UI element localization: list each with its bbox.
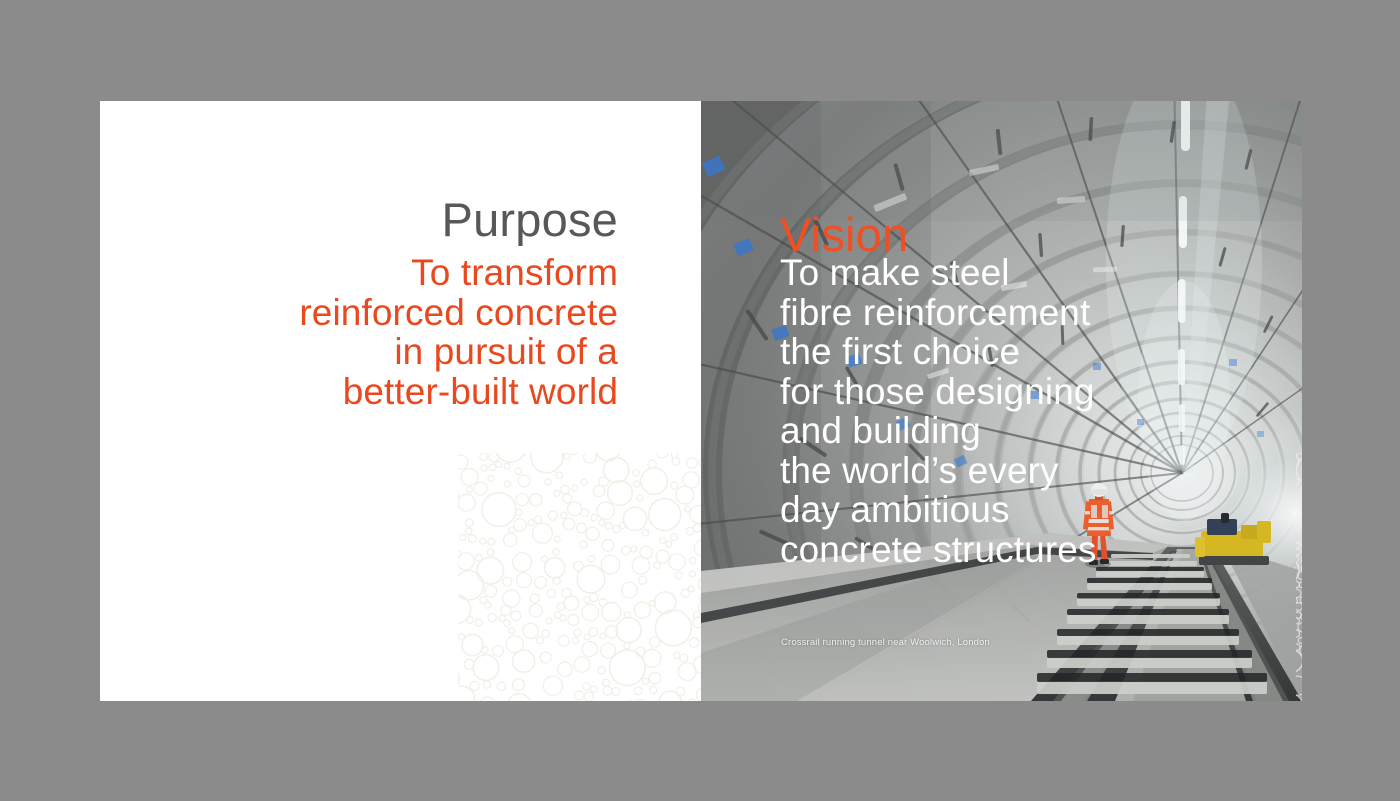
vision-line-2: fibre reinforcement xyxy=(780,293,1280,333)
purpose-line-4: better-built world xyxy=(188,372,618,412)
slide-canvas: Purpose To transform reinforced concrete… xyxy=(100,101,1302,701)
purpose-heading: Purpose xyxy=(442,196,618,243)
vision-statement: To make steel fibre reinforcement the fi… xyxy=(780,253,1280,570)
purpose-panel: Purpose To transform reinforced concrete… xyxy=(100,101,701,701)
purpose-statement: To transform reinforced concrete in purs… xyxy=(188,253,618,411)
photo-caption: Crossrail running tunnel near Woolwich, … xyxy=(781,637,990,648)
vision-line-3: the first choice xyxy=(780,332,1280,372)
purpose-line-3: in pursuit of a xyxy=(188,332,618,372)
vision-line-4: for those designing xyxy=(780,372,1280,412)
vision-panel: Vision To make steel fibre reinforcement… xyxy=(701,101,1302,701)
bubble-circles-watermark xyxy=(458,453,701,701)
vision-line-5: and building xyxy=(780,411,1280,451)
vision-line-8: concrete structures xyxy=(780,530,1280,570)
vision-line-6: the world’s every xyxy=(780,451,1280,491)
vision-line-7: day ambitious xyxy=(780,490,1280,530)
purpose-line-1: To transform xyxy=(188,253,618,293)
vision-line-1: To make steel xyxy=(780,253,1280,293)
purpose-line-2: reinforced concrete xyxy=(188,293,618,333)
